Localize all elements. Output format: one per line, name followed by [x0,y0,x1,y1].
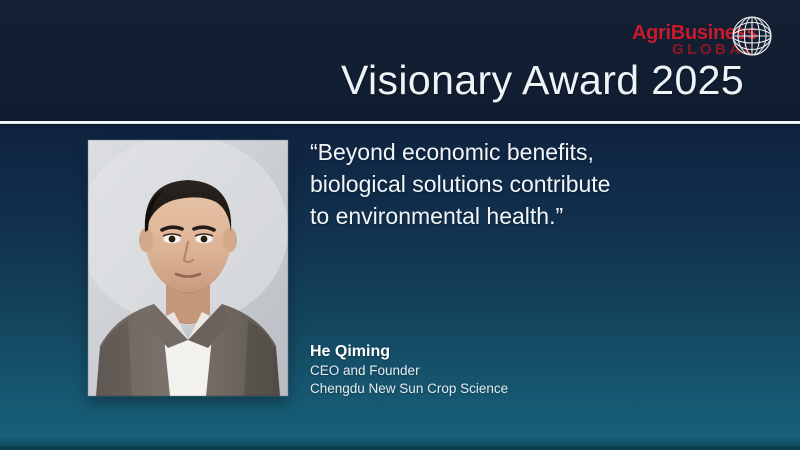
bottom-divider [0,446,800,450]
speaker-portrait [88,140,288,396]
agribusiness-global-logo: AgriBusiness GLOBAL [632,10,792,62]
speaker-name: He Qiming [310,341,508,362]
page-title: Visionary Award 2025 [341,56,744,104]
globe-icon [728,12,776,60]
header-band: Visionary Award 2025 AgriBusiness GLOBAL [0,0,800,121]
award-slide: Visionary Award 2025 AgriBusiness GLOBAL [0,0,800,450]
quote-line-3: to environmental health.” [310,200,680,232]
speaker-role: CEO and Founder [310,362,508,380]
quote-line-2: biological solutions contribute [310,168,680,200]
quote-line-1: “Beyond economic benefits, [310,136,680,168]
speaker-company: Chengdu New Sun Crop Science [310,380,508,398]
header-divider [0,121,800,124]
quote-text: “Beyond economic benefits, biological so… [310,136,680,232]
attribution-block: He Qiming CEO and Founder Chengdu New Su… [310,341,508,398]
